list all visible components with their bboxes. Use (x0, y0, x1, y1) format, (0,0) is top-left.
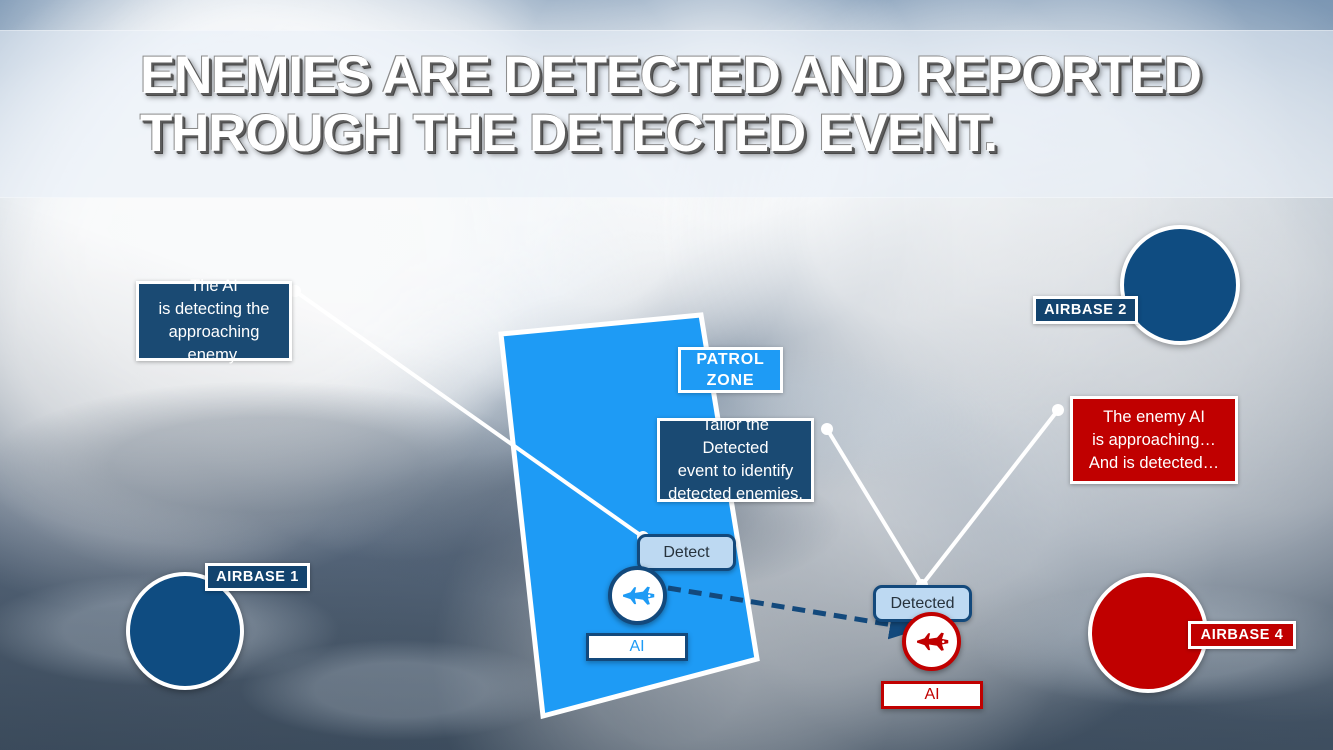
friendly-ai-label[interactable]: AI (586, 633, 688, 661)
callout-line: Tailor the Detected (668, 414, 803, 460)
enemy-ai-label[interactable]: AI (881, 681, 983, 709)
patrol-zone-label[interactable]: PATROL ZONE (678, 347, 783, 393)
page-title: Enemies are detected and reported throug… (140, 47, 1260, 163)
callout-line: detected enemies. (668, 483, 803, 506)
slide-canvas: Enemies are detected and reported throug… (0, 0, 1333, 750)
callout-line: approaching enemy. (147, 321, 281, 367)
callout-tailor-detected: Tailor the Detected event to identify de… (657, 418, 814, 502)
title-line-1: Enemies are detected and reported (140, 47, 1260, 105)
airbase-2-circle[interactable] (1120, 225, 1240, 345)
friendly-jet-badge[interactable] (608, 566, 667, 625)
callout-ai-detecting: The AI is detecting the approaching enem… (136, 281, 292, 361)
title-line-2: through the Detected event. (140, 105, 1260, 163)
callout-line: event to identify (678, 460, 794, 483)
callout-line: The AI (190, 275, 238, 298)
airbase-1-label[interactable]: AIRBASE 1 (205, 563, 310, 591)
airbase-2-label[interactable]: AIRBASE 2 (1033, 296, 1138, 324)
callout-line: is detecting the (159, 298, 270, 321)
event-detect-box[interactable]: Detect (637, 534, 736, 571)
enemy-jet-badge[interactable] (902, 612, 961, 671)
patrol-zone-label-line-1: PATROL (696, 349, 764, 370)
fighter-jet-icon (618, 576, 658, 616)
callout-line: And is detected… (1089, 452, 1219, 475)
patrol-zone-label-line-2: ZONE (707, 370, 755, 391)
callout-line: is approaching… (1092, 429, 1216, 452)
callout-enemy-approaching: The enemy AI is approaching… And is dete… (1070, 396, 1238, 484)
fighter-jet-icon (912, 622, 952, 662)
callout-line: The enemy AI (1103, 406, 1205, 429)
airbase-4-label[interactable]: AIRBASE 4 (1188, 621, 1296, 649)
